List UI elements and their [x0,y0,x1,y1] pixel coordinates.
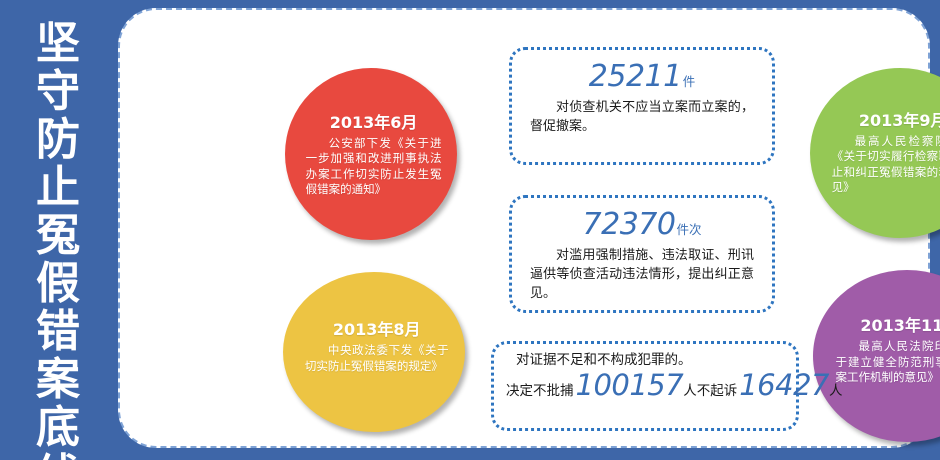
title-band: 坚守防止冤假错案底线 [0,0,118,460]
stat-number: 25211 [589,59,682,94]
circle-body: 中央政法委下发《关于切实防止冤假错案的规定》 [305,343,449,374]
stat-box-correction-opinions[interactable]: 72370件次 对滥用强制措施、违法取证、刑讯逼供等侦查活动违法情形，提出纠正意… [509,195,775,313]
stat-box-case-withdrawal[interactable]: 25211件 对侦查机关不应当立案而立案的，督促撤案。 [509,47,775,165]
circle-date: 2013年9月 [832,111,940,131]
infographic-root: 坚守防止冤假错案底线 2013年6月 公安部下发《关于进一步加强和改进刑事执法办… [0,0,940,460]
circle-content: 2013年11月 最高人民法院印发《关于建立健全防范刑事冤假错案工作机制的意见》 [836,316,940,386]
circle-date: 2013年11月 [836,316,940,336]
stat-description: 对侦查机关不应当立案而立案的，督促撤案。 [530,98,754,136]
stat-unit: 件 [683,74,696,89]
stat-number-no-prosecution: 16427 [739,368,829,402]
page-title: 坚守防止冤假错案底线 [26,20,90,460]
timeline-circle-yellow[interactable]: 2013年8月 中央政法委下发《关于切实防止冤假错案的规定》 [283,272,465,432]
stat-unit-no-arrest: 人 [683,383,697,399]
timeline-circle-red[interactable]: 2013年6月 公安部下发《关于进一步加强和改进刑事执法办案工作切实防止发生冤假… [285,68,457,240]
stat-label-no-prosecution: 不起诉 [697,383,738,399]
timeline-circle-purple[interactable]: 2013年11月 最高人民法院印发《关于建立健全防范刑事冤假错案工作机制的意见》 [813,270,940,442]
stat-description: 对滥用强制措施、违法取证、刑讯逼供等侦查活动违法情形，提出纠正意见。 [530,246,754,303]
content-panel: 2013年6月 公安部下发《关于进一步加强和改进刑事执法办案工作切实防止发生冤假… [118,8,930,448]
stat-headline: 72370件次 [512,207,772,242]
stat-headline: 25211件 [512,59,772,94]
stat-box-no-arrest-no-prosecution[interactable]: 对证据不足和不构成犯罪的。 决定不批捕100157人不起诉16427人 [491,341,799,431]
circle-body: 公安部下发《关于进一步加强和改进刑事执法办案工作切实防止发生冤假错案的通知》 [306,136,442,198]
circle-content: 2013年6月 公安部下发《关于进一步加强和改进刑事执法办案工作切实防止发生冤假… [306,113,442,198]
circle-date: 2013年8月 [305,320,449,340]
circle-content: 2013年9月 最高人民检察院出台《关于切实履行检察职能防止和纠正冤假错案的若干… [832,111,940,196]
stat-inline-figures: 决定不批捕100157人不起诉16427人 [506,370,796,406]
stat-number: 72370 [583,207,676,242]
circle-body: 最高人民法院印发《关于建立健全防范刑事冤假错案工作机制的意见》 [836,339,940,386]
circle-date: 2013年6月 [306,113,442,133]
stat-number-no-arrest: 100157 [576,368,684,402]
stat-label-no-arrest: 决定不批捕 [506,383,574,399]
stat-unit-no-prosecution: 人 [829,383,843,399]
timeline-circle-green[interactable]: 2013年9月 最高人民检察院出台《关于切实履行检察职能防止和纠正冤假错案的若干… [810,68,940,238]
stat-unit: 件次 [676,222,701,237]
circle-content: 2013年8月 中央政法委下发《关于切实防止冤假错案的规定》 [305,320,449,374]
stat-lead-text: 对证据不足和不构成犯罪的。 [516,351,796,369]
circle-body: 最高人民检察院出台《关于切实履行检察职能防止和纠正冤假错案的若干意见》 [832,134,940,196]
